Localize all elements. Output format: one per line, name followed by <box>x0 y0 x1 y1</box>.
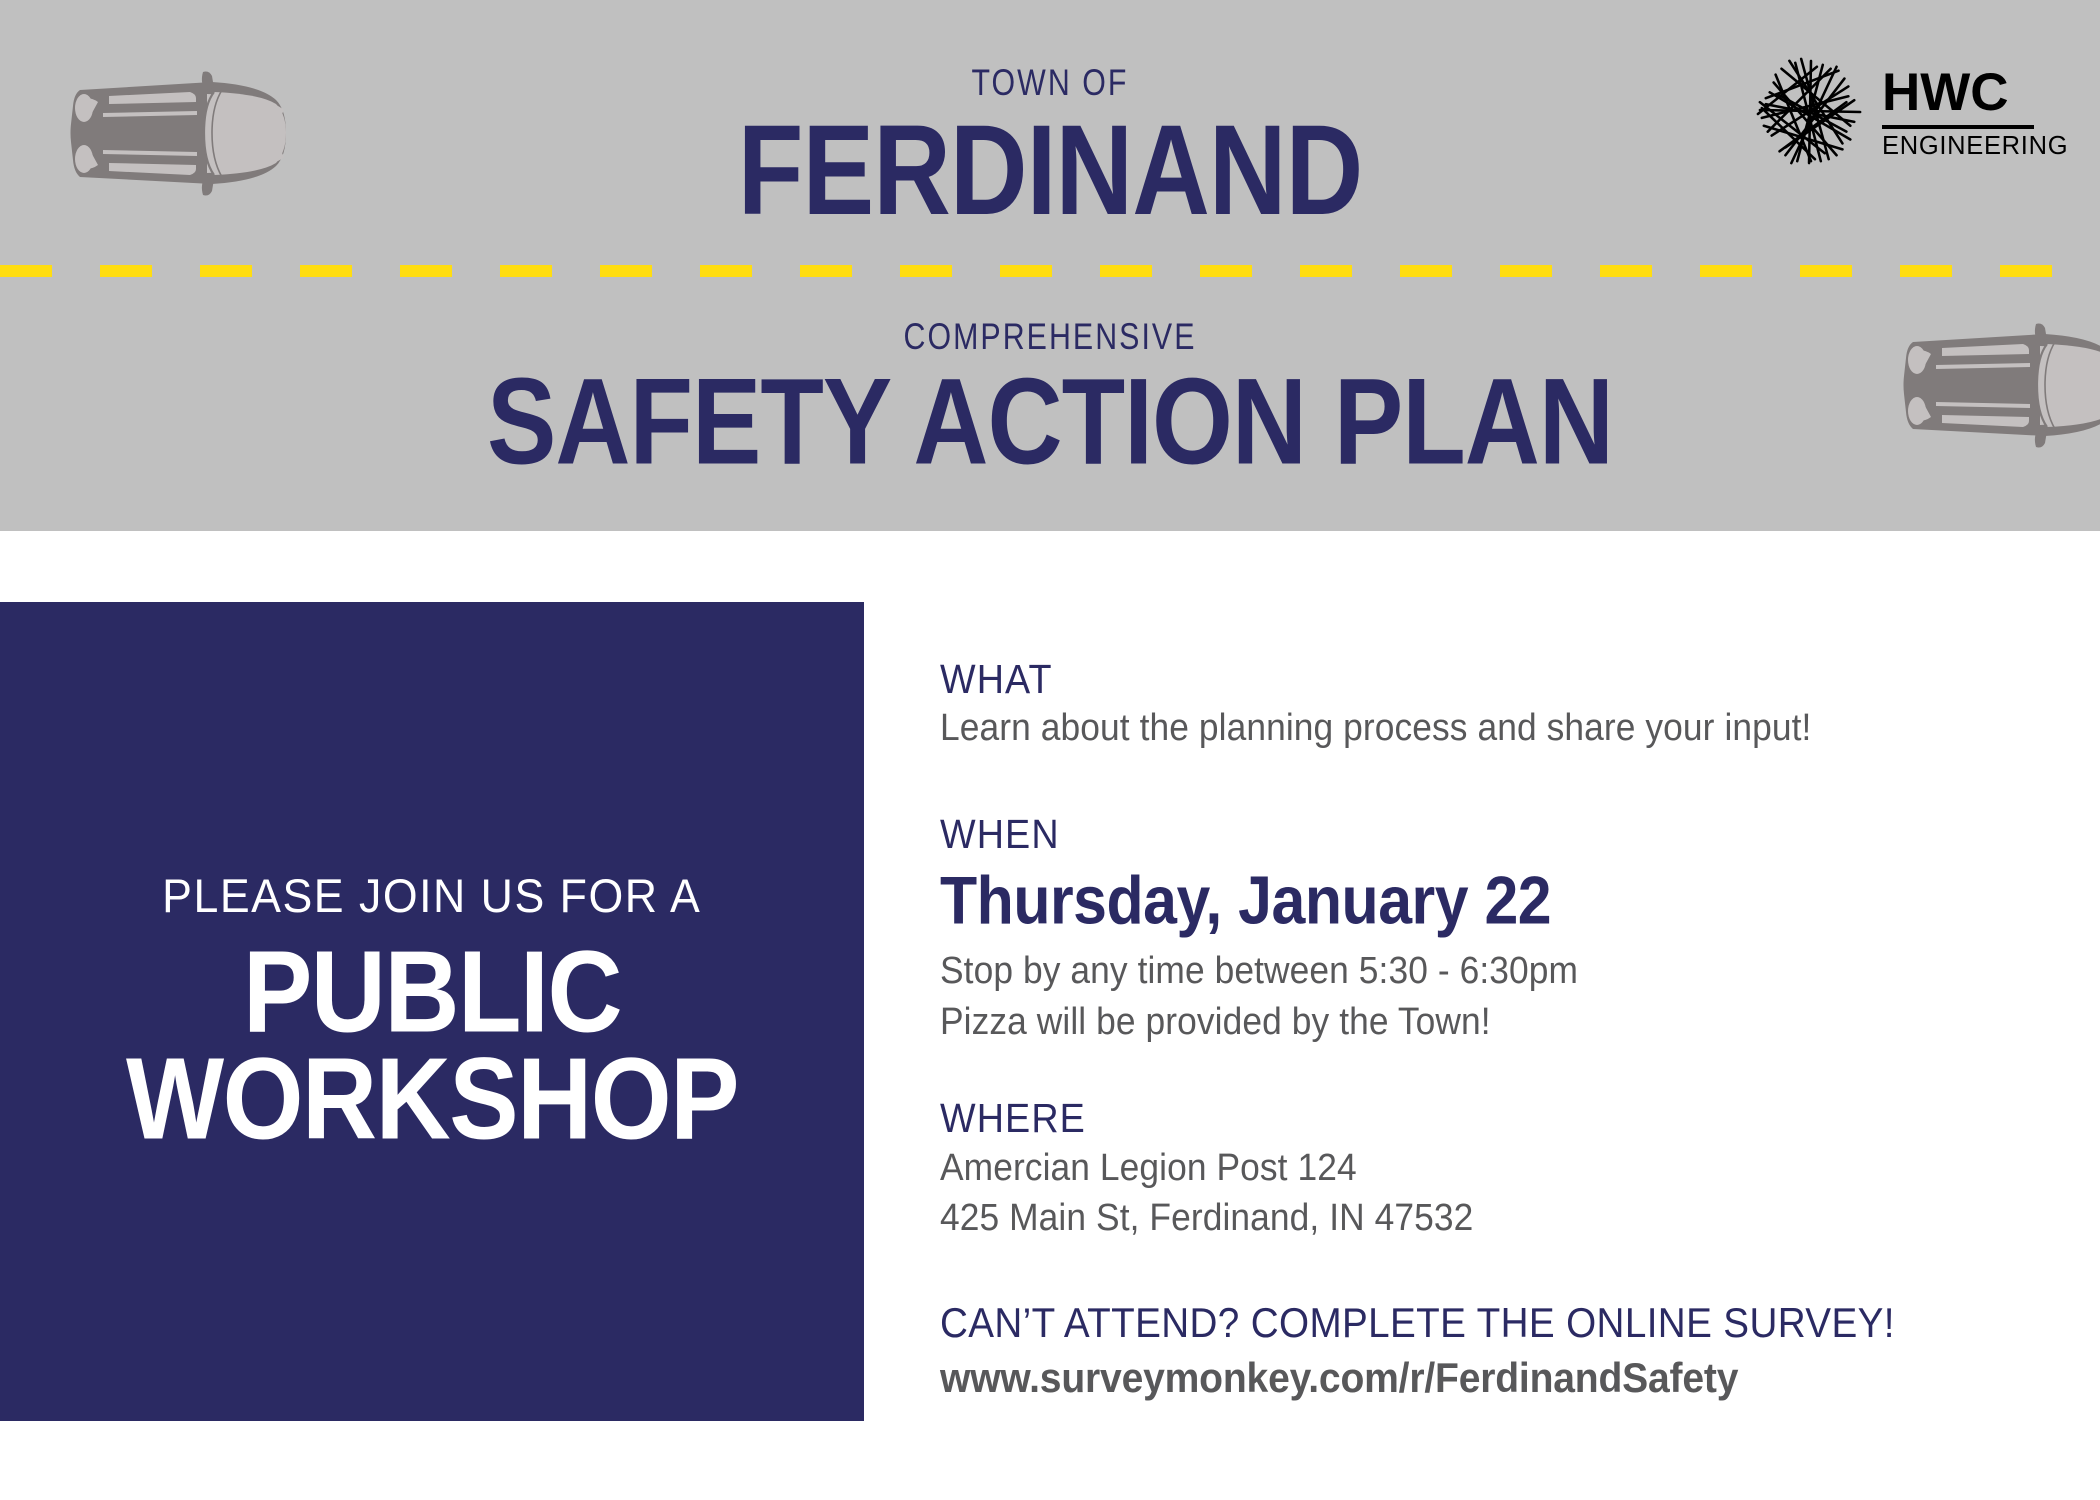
lane-dash-line <box>0 265 2100 277</box>
venue-name: Amercian Legion Post 124 <box>940 1143 1926 1194</box>
section-what: WHAT Learn about the planning process an… <box>940 655 2000 754</box>
lane-dash <box>1900 265 1952 277</box>
eyebrow-town-of: TOWN OF <box>189 64 1911 103</box>
spacer-where-survey <box>940 1244 2000 1298</box>
lane-dash <box>100 265 152 277</box>
scribble-circle-icon <box>1752 53 1870 171</box>
join-us-label: PLEASE JOIN US FOR A <box>162 872 701 919</box>
lane-dash <box>1100 265 1152 277</box>
hwc-subtitle: ENGINEERING <box>1882 134 2068 160</box>
workshop-title-line2: WORKSHOP <box>126 1040 738 1160</box>
spacer-what-when <box>940 754 2000 810</box>
spacer-when-where <box>940 1048 2000 1094</box>
lane-dash <box>500 265 552 277</box>
flyer-canvas: TOWN OF FERDINAND COMPREHENSIVE SAFETY A… <box>0 0 2100 1500</box>
lane-dash <box>1000 265 1052 277</box>
venue-address: 425 Main St, Ferdinand, IN 47532 <box>940 1193 1926 1244</box>
header-title-group-bottom: COMPREHENSIVE SAFETY ACTION PLAN <box>0 318 2100 465</box>
lane-dash <box>1800 265 1852 277</box>
public-workshop-panel: PLEASE JOIN US FOR A PUBLIC WORKSHOP <box>0 602 864 1421</box>
lane-dash <box>1200 265 1252 277</box>
event-details-column: WHAT Learn about the planning process an… <box>940 655 2000 1403</box>
hwc-engineering-logo: HWC ENGINEERING <box>1752 52 2034 172</box>
lane-dash <box>200 265 252 277</box>
where-label: WHERE <box>940 1094 1915 1142</box>
lane-dash <box>800 265 852 277</box>
lane-dash <box>700 265 752 277</box>
lane-dash <box>1300 265 1352 277</box>
lane-dash <box>1400 265 1452 277</box>
event-date: Thursday, January 22 <box>940 863 1947 939</box>
page-title-safety-action-plan: SAFETY ACTION PLAN <box>0 361 2100 484</box>
survey-heading: CAN’T ATTEND? COMPLETE THE ONLINE SURVEY… <box>940 1298 1915 1348</box>
lane-dash <box>1600 265 1652 277</box>
eyebrow-comprehensive: COMPREHENSIVE <box>189 318 1911 357</box>
hwc-divider <box>1882 125 2034 129</box>
lane-dash <box>0 265 52 277</box>
header-road-band: TOWN OF FERDINAND COMPREHENSIVE SAFETY A… <box>0 0 2100 531</box>
section-survey: CAN’T ATTEND? COMPLETE THE ONLINE SURVEY… <box>940 1298 2000 1403</box>
when-label: WHEN <box>940 810 1915 858</box>
hwc-name: HWC <box>1882 68 2068 118</box>
lane-dash <box>400 265 452 277</box>
event-food-note: Pizza will be provided by the Town! <box>940 997 1926 1048</box>
car-top-view-icon-right <box>1895 318 2100 453</box>
lane-dash <box>900 265 952 277</box>
section-where: WHERE Amercian Legion Post 124 425 Main … <box>940 1094 2000 1244</box>
hwc-wordmark: HWC ENGINEERING <box>1882 64 2068 160</box>
lane-dash <box>1500 265 1552 277</box>
survey-url-link[interactable]: www.surveymonkey.com/r/FerdinandSafety <box>940 1353 1926 1403</box>
what-body: Learn about the planning process and sha… <box>940 703 1926 754</box>
lane-dash <box>300 265 352 277</box>
event-time: Stop by any time between 5:30 - 6:30pm <box>940 946 1926 997</box>
lane-dash <box>2000 265 2052 277</box>
lane-dash <box>600 265 652 277</box>
section-when: WHEN Thursday, January 22 Stop by any ti… <box>940 810 2000 1048</box>
what-label: WHAT <box>940 655 1915 703</box>
lane-dash <box>1700 265 1752 277</box>
